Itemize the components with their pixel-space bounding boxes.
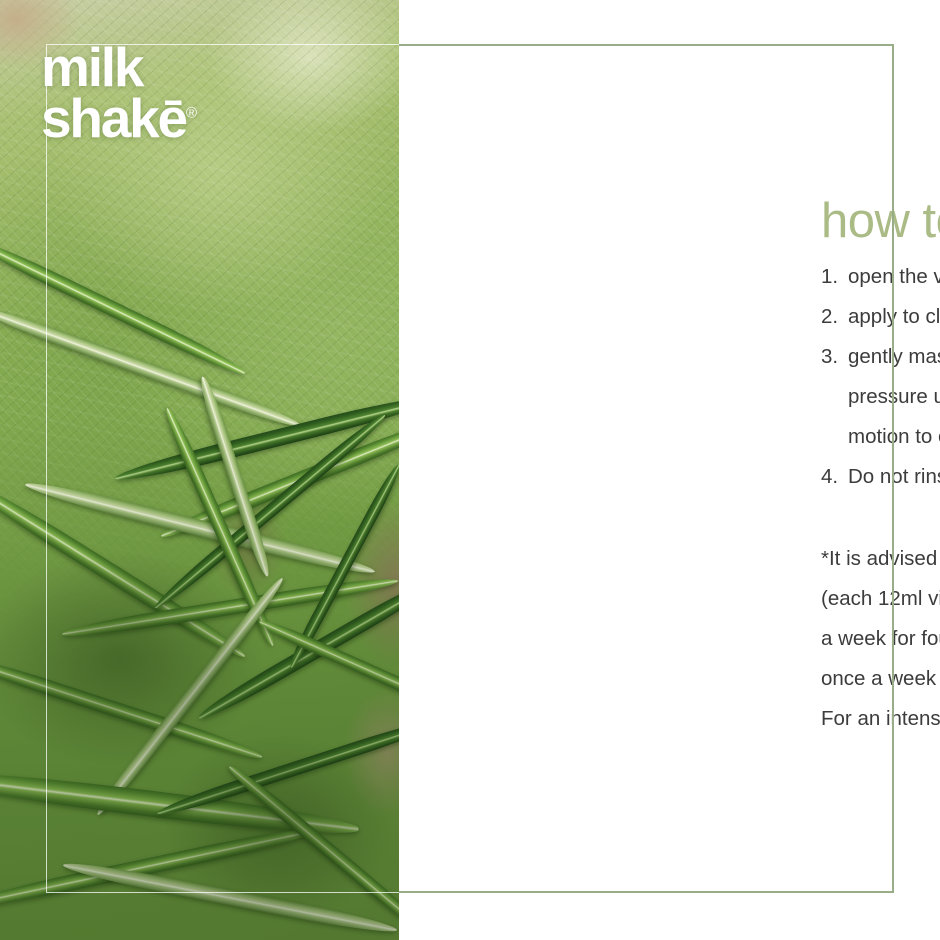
instructions-panel: how to use: 1. open the vial and attach … <box>399 0 940 940</box>
list-item: 3. gently massage while applying a sligh… <box>821 337 940 457</box>
brand-logo-line1: milk <box>41 42 197 93</box>
registered-trademark-icon: ® <box>186 104 197 121</box>
usage-note-line: once a week as a maintaining treatment. <box>821 659 940 699</box>
instructions-content: how to use: 1. open the vial and attach … <box>821 196 940 739</box>
usage-note-line: (each 12ml vial contains 2 doses) twice <box>821 579 940 619</box>
step-text: apply to clean hair and scalp in section… <box>848 305 940 328</box>
step-text: open the vial and attach applicator tip, <box>848 265 940 288</box>
list-item: 2. apply to clean hair and scalp in sect… <box>821 297 940 337</box>
poster: milk shakē® how to use: 1. open the vial… <box>0 0 940 940</box>
brand-logo-line2-wrap: shakē® <box>41 93 197 144</box>
brand-logo-line2: shakē <box>41 87 186 149</box>
page-title: how to use: <box>821 196 940 247</box>
usage-note-line: a week for four weeks, and then use it <box>821 619 940 659</box>
step-number: 3. <box>821 337 838 377</box>
step-number: 2. <box>821 297 838 337</box>
step-number: 1. <box>821 257 838 297</box>
brand-logo: milk shakē® <box>41 42 197 143</box>
steps-list: 1. open the vial and attach applicator t… <box>821 257 940 497</box>
list-item: 4. Do not rinse and proceed with styling… <box>821 457 940 497</box>
step-text: gently massage while applying a slight p… <box>848 345 940 448</box>
usage-note: *It is advised to use the treatment loti… <box>821 539 940 739</box>
step-text: Do not rinse and proceed with styling. <box>848 465 940 488</box>
usage-note-line: *It is advised to use the treatment loti… <box>821 539 940 579</box>
list-item: 1. open the vial and attach applicator t… <box>821 257 940 297</box>
usage-note-line: For an intensive treatment, use once a d… <box>821 699 940 739</box>
step-number: 4. <box>821 457 838 497</box>
